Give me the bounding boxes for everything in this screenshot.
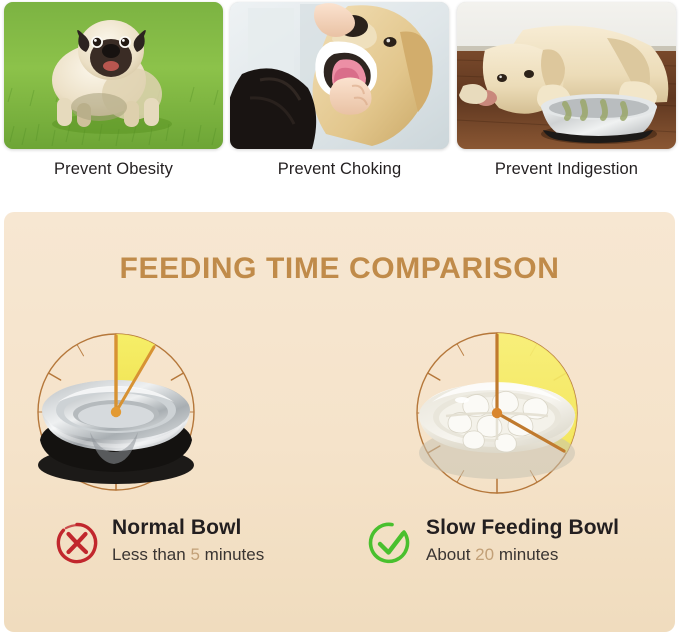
benefit-caption-0: Prevent Obesity	[4, 160, 223, 179]
benefit-card-prevent-choking	[230, 2, 449, 149]
page-title: FEEDING TIME COMPARISON	[4, 252, 675, 286]
person-checking-dog-mouth-photo	[230, 2, 449, 149]
result-title-slow-feeding-bowl: Slow Feeding Bowl	[426, 516, 619, 540]
result-sub-prefix-normal: Less than	[112, 545, 186, 564]
result-subtitle-slow-feeding-bowl: About 20 minutes	[426, 545, 558, 565]
benefit-card-prevent-indigestion	[457, 2, 676, 149]
check-circle-icon	[368, 520, 414, 566]
result-sub-suffix-slow: minutes	[499, 545, 559, 564]
result-sub-number-slow: 20	[475, 545, 494, 564]
result-title-normal-bowl: Normal Bowl	[112, 516, 241, 540]
cross-circle-icon	[54, 520, 100, 566]
benefit-card-prevent-obesity	[4, 2, 223, 149]
comparison-column-slow-feeding-bowl: Slow Feeding Bowl About 20 minutes	[342, 290, 642, 620]
product-infographic: Prevent Obesity Prevent Choking Prevent …	[0, 0, 679, 636]
benefits-row: Prevent Obesity Prevent Choking Prevent …	[0, 0, 679, 196]
result-normal-bowl: Normal Bowl Less than 5 minutes	[54, 516, 328, 588]
result-sub-number-normal: 5	[190, 545, 199, 564]
result-subtitle-normal-bowl: Less than 5 minutes	[112, 545, 264, 565]
result-sub-prefix-slow: About	[426, 545, 470, 564]
result-sub-suffix-normal: minutes	[205, 545, 265, 564]
benefit-caption-1: Prevent Choking	[230, 160, 449, 179]
fat-pug-on-grass-photo	[4, 2, 223, 149]
feeding-time-comparison-panel: FEEDING TIME COMPARISON	[4, 212, 675, 632]
benefit-caption-2: Prevent Indigestion	[457, 160, 676, 179]
comparison-column-normal-bowl: Normal Bowl Less than 5 minutes	[28, 290, 328, 620]
clock-dial-slow-feeding-bowl	[342, 290, 642, 505]
clock-dial-normal-bowl	[28, 290, 328, 505]
labrador-lying-by-food-bowl-photo	[457, 2, 676, 149]
result-slow-feeding-bowl: Slow Feeding Bowl About 20 minutes	[368, 516, 642, 588]
